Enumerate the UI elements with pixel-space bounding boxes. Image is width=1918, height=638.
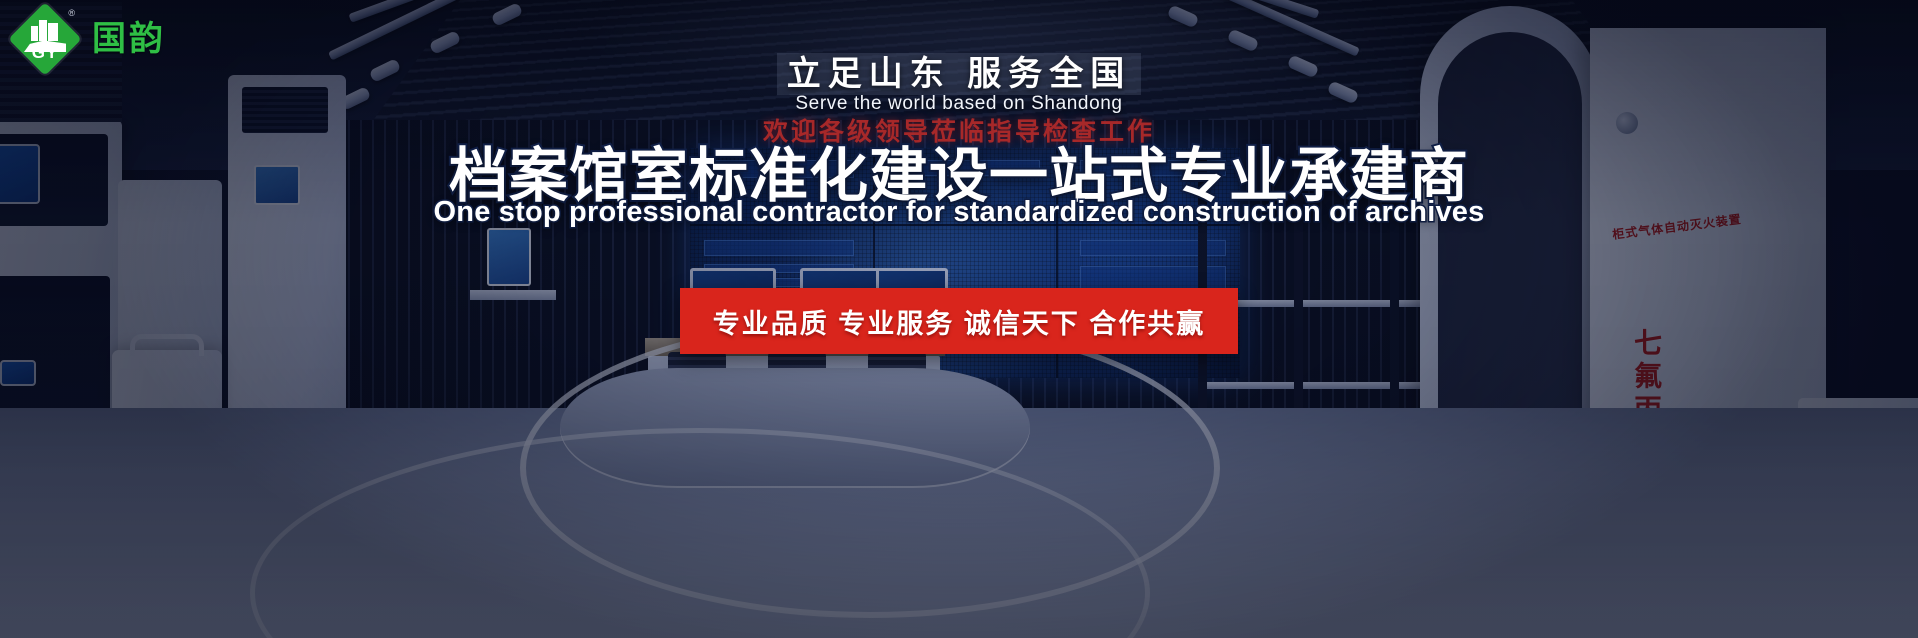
hero-slogan-en: Serve the world based on Shandong	[0, 93, 1918, 115]
logo-wordmark: 国韵	[92, 22, 166, 56]
hero-slogan-cn: 立足山东 服务全国	[0, 46, 1918, 95]
hero-title-sub: One stop professional contractor for sta…	[0, 196, 1918, 229]
hero-ribbon: 专业品质 专业服务 诚信天下 合作共赢	[680, 288, 1238, 354]
registered-mark-icon: ®	[68, 8, 75, 18]
hero-slogan-cn-text: 立足山东 服务全国	[777, 53, 1141, 95]
gy-diamond-logo-icon: GY ®	[12, 6, 78, 72]
site-logo[interactable]: GY ® 国韵	[12, 6, 166, 72]
hero-ribbon-text: 专业品质 专业服务 诚信天下 合作共赢	[713, 302, 1206, 341]
hero-banner: 国韵电子 柜式气体自动灭火装置 七氟丙烷 国韵电子	[0, 0, 1918, 638]
logo-mark-text: GY	[12, 43, 78, 63]
